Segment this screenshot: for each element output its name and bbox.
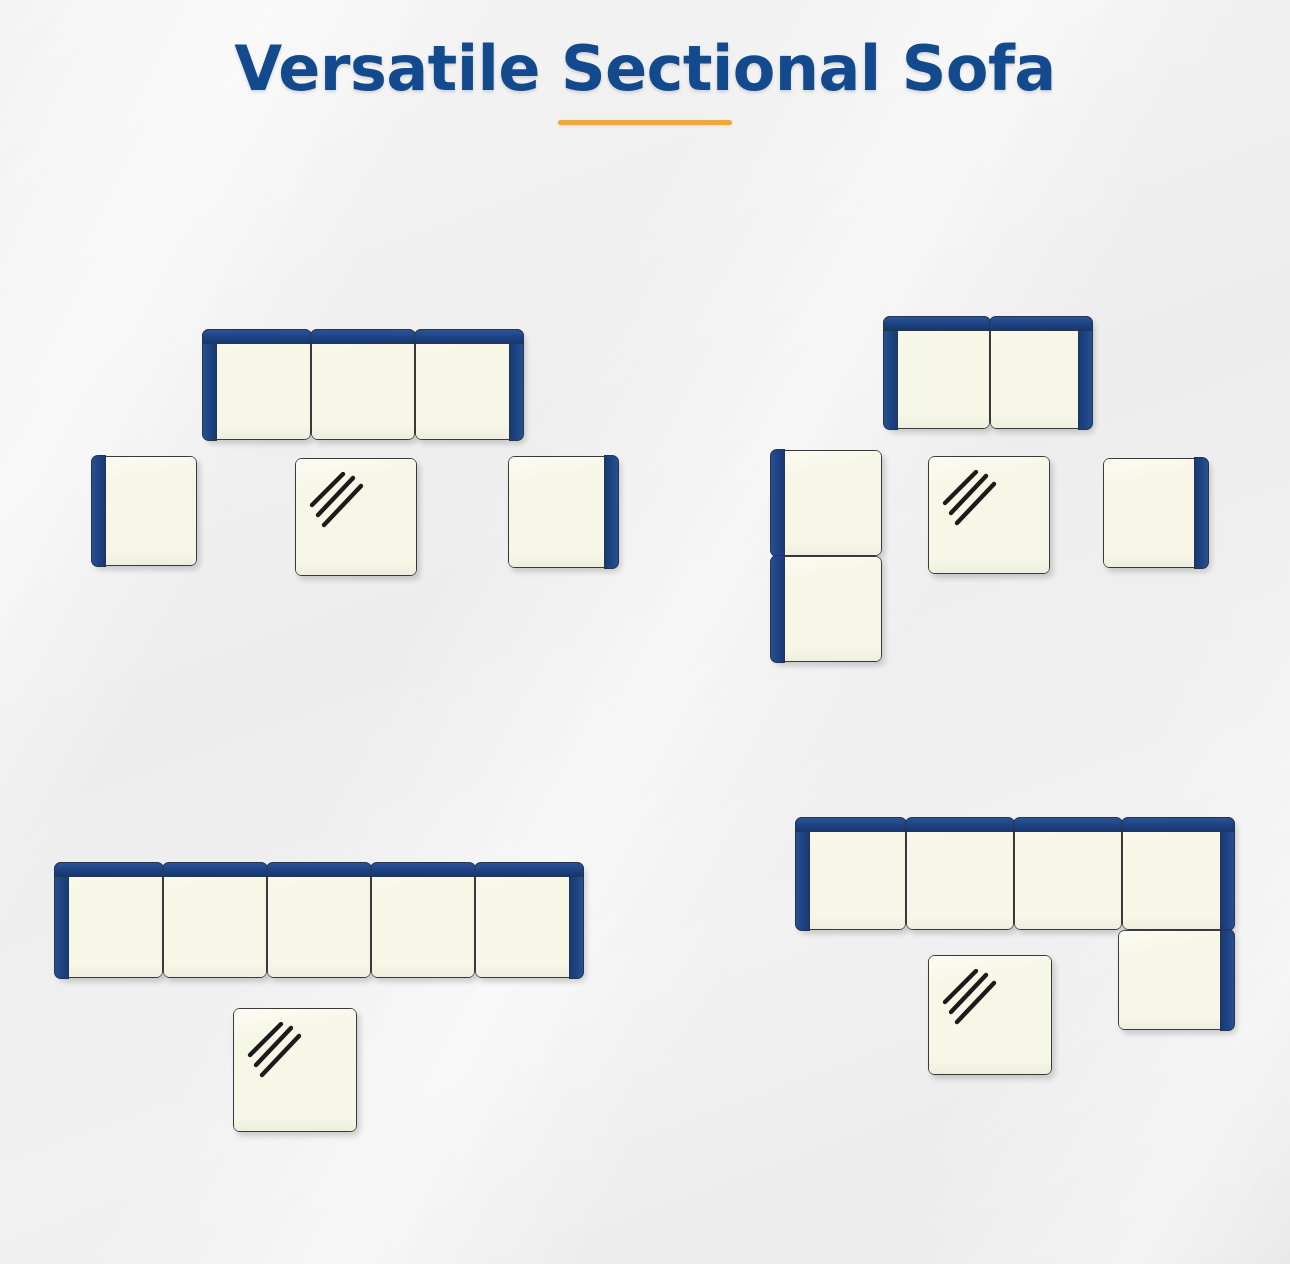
seat-cushion <box>164 864 266 977</box>
configuration-4-sofa-module-1-left-arm[interactable] <box>796 818 906 930</box>
configuration-2-chair-right-arm[interactable] <box>1103 458 1208 568</box>
seat-cushion <box>797 819 905 929</box>
configuration-3-sofa-module-1-left-arm[interactable] <box>55 863 163 978</box>
page-title: Versatile Sectional Sofa <box>0 0 1290 100</box>
seat-cushion <box>1123 819 1233 929</box>
seat-cushion <box>991 318 1091 428</box>
configuration-1-sofa-module-left-arm[interactable] <box>203 330 311 440</box>
configuration-3-sofa-module-2[interactable] <box>163 863 267 978</box>
configuration-3-sofa-module-4[interactable] <box>371 863 475 978</box>
configuration-3-sofa-module-5-right-arm[interactable] <box>475 863 583 978</box>
seat-cushion <box>372 864 474 977</box>
seat-cushion <box>885 318 989 428</box>
seat-cushion <box>772 557 881 661</box>
configuration-4-sofa-corner-right-arm[interactable] <box>1122 818 1234 930</box>
configuration-2-stack-seat-top[interactable] <box>771 450 882 556</box>
configuration-4-sofa-chaise-right-arm[interactable] <box>1118 930 1234 1030</box>
seat-cushion <box>93 457 196 565</box>
seat-cushion <box>416 331 522 439</box>
configuration-2-loveseat-module-left[interactable] <box>884 317 990 429</box>
configuration-1-chair-left-arm[interactable] <box>92 456 197 566</box>
configuration-1-ottoman[interactable] <box>295 458 417 576</box>
seat-cushion <box>1015 819 1121 929</box>
configuration-4-sofa-module-2[interactable] <box>906 818 1014 930</box>
configuration-3-sofa-module-3[interactable] <box>267 863 371 978</box>
configuration-2-stack-seat-bottom[interactable] <box>771 556 882 662</box>
configuration-2-loveseat-module-right[interactable] <box>990 317 1092 429</box>
seat-cushion <box>204 331 310 439</box>
sofa-diagram-page: Versatile Sectional Sofa <box>0 0 1290 1264</box>
hatch-lines-icon <box>942 969 1004 1031</box>
configuration-1-chair-right-arm[interactable] <box>508 456 618 568</box>
seat-cushion <box>772 451 881 555</box>
seat-cushion <box>56 864 162 977</box>
seat-cushion <box>476 864 582 977</box>
seat-cushion <box>1104 459 1207 567</box>
page-header: Versatile Sectional Sofa <box>0 0 1290 125</box>
seat-cushion <box>268 864 370 977</box>
seat-cushion <box>907 819 1013 929</box>
seat-cushion <box>509 457 617 567</box>
configuration-1-sofa-module-right-arm[interactable] <box>415 330 523 440</box>
hatch-lines-icon <box>309 472 371 534</box>
hatch-lines-icon <box>247 1022 309 1084</box>
configuration-4-sofa-module-3[interactable] <box>1014 818 1122 930</box>
title-underline-accent <box>558 120 732 125</box>
seat-cushion <box>1119 931 1233 1029</box>
configuration-3-ottoman[interactable] <box>233 1008 357 1132</box>
seat-cushion <box>312 331 414 439</box>
configuration-1-sofa-module-middle[interactable] <box>311 330 415 440</box>
configuration-2-ottoman[interactable] <box>928 456 1050 574</box>
configuration-4-ottoman[interactable] <box>928 955 1052 1075</box>
hatch-lines-icon <box>942 470 1004 532</box>
